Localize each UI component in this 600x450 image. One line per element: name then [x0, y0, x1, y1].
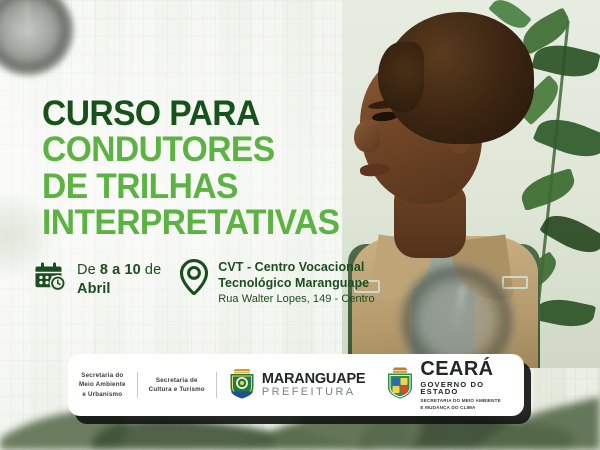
secretariat-2-line-2: Cultura e Turismo	[149, 385, 205, 394]
secretariat-1-line-1: Secretaria do	[79, 371, 126, 380]
headline-line-2: CONDUTORES	[42, 132, 340, 168]
strap-buckle	[502, 276, 528, 289]
ceara-department-line-1: SECRETARIA DO MEIO AMBIENTE	[420, 398, 514, 405]
nose	[354, 120, 380, 152]
secretariat-culture: Secretaria de Cultura e Turismo	[138, 376, 216, 395]
venue-block: CVT - Centro Vocacional Tecnológico Mara…	[179, 258, 374, 307]
venue-address: Rua Walter Lopes, 149 - Centro	[218, 292, 374, 307]
hero-photo	[342, 0, 600, 368]
page-title: CURSO PARA CONDUTORES DE TRILHAS INTERPR…	[42, 96, 352, 242]
headline-line-3: DE TRILHAS	[42, 169, 340, 205]
ceara-department: SECRETARIA DO MEIO AMBIENTE E MUDANÇA DO…	[420, 398, 514, 412]
ceara-subtitle: GOVERNO DO ESTADO	[420, 381, 514, 396]
venue-line-2: Tecnológico Maranguape	[218, 275, 374, 291]
ceara-text: CEARÁ GOVERNO DO ESTADO SECRETARIA DO ME…	[420, 359, 514, 412]
maranguape-name: MARANGUAPE	[262, 372, 366, 387]
date-month: Abril	[77, 281, 111, 297]
hair	[384, 12, 534, 144]
ceara-name: CEARÁ	[420, 359, 514, 379]
secretariat-2-line-1: Secretaria de	[149, 376, 205, 385]
ceara-coat-of-arms-icon	[385, 366, 415, 405]
maranguape-text: MARANGUAPE PREFEITURA	[262, 372, 366, 399]
maranguape-coat-of-arms-icon	[227, 366, 257, 405]
venue-text: CVT - Centro Vocacional Tecnológico Mara…	[218, 258, 374, 307]
event-details: De 8 a 10 de Abril CVT - Centro Vocacion…	[34, 258, 375, 307]
date-text: De 8 a 10 de Abril	[77, 258, 161, 298]
calendar-clock-icon	[34, 259, 68, 298]
date-prefix: De	[77, 262, 100, 278]
sponsor-logo-bar: Secretaria do Meio Ambiente e Urbanismo …	[68, 354, 524, 416]
maranguape-subtitle: PREFEITURA	[262, 387, 366, 398]
date-middle: de	[141, 262, 161, 278]
date-range: 8 a 10	[100, 262, 141, 278]
secretariat-1-line-3: e Urbanismo	[79, 390, 126, 399]
venue-line-1: CVT - Centro Vocacional	[218, 259, 374, 275]
secretariat-1-line-2: Meio Ambiente	[79, 380, 126, 389]
secretariat-environment: Secretaria do Meio Ambiente e Urbanismo	[68, 371, 137, 399]
maranguape-logo: MARANGUAPE PREFEITURA	[217, 366, 376, 405]
ceara-department-line-2: E MUDANÇA DO CLIMA	[420, 405, 514, 412]
headline-line-4: INTERPRETATIVAS	[42, 205, 340, 241]
date-block: De 8 a 10 de Abril	[34, 258, 161, 298]
person-portrait	[350, 8, 546, 368]
map-pin-icon	[179, 259, 209, 300]
event-promo-banner: CURSO PARA CONDUTORES DE TRILHAS INTERPR…	[0, 0, 600, 450]
ceara-logo: CEARÁ GOVERNO DO ESTADO SECRETARIA DO ME…	[375, 359, 524, 412]
headline-line-1: CURSO PARA	[42, 96, 340, 132]
